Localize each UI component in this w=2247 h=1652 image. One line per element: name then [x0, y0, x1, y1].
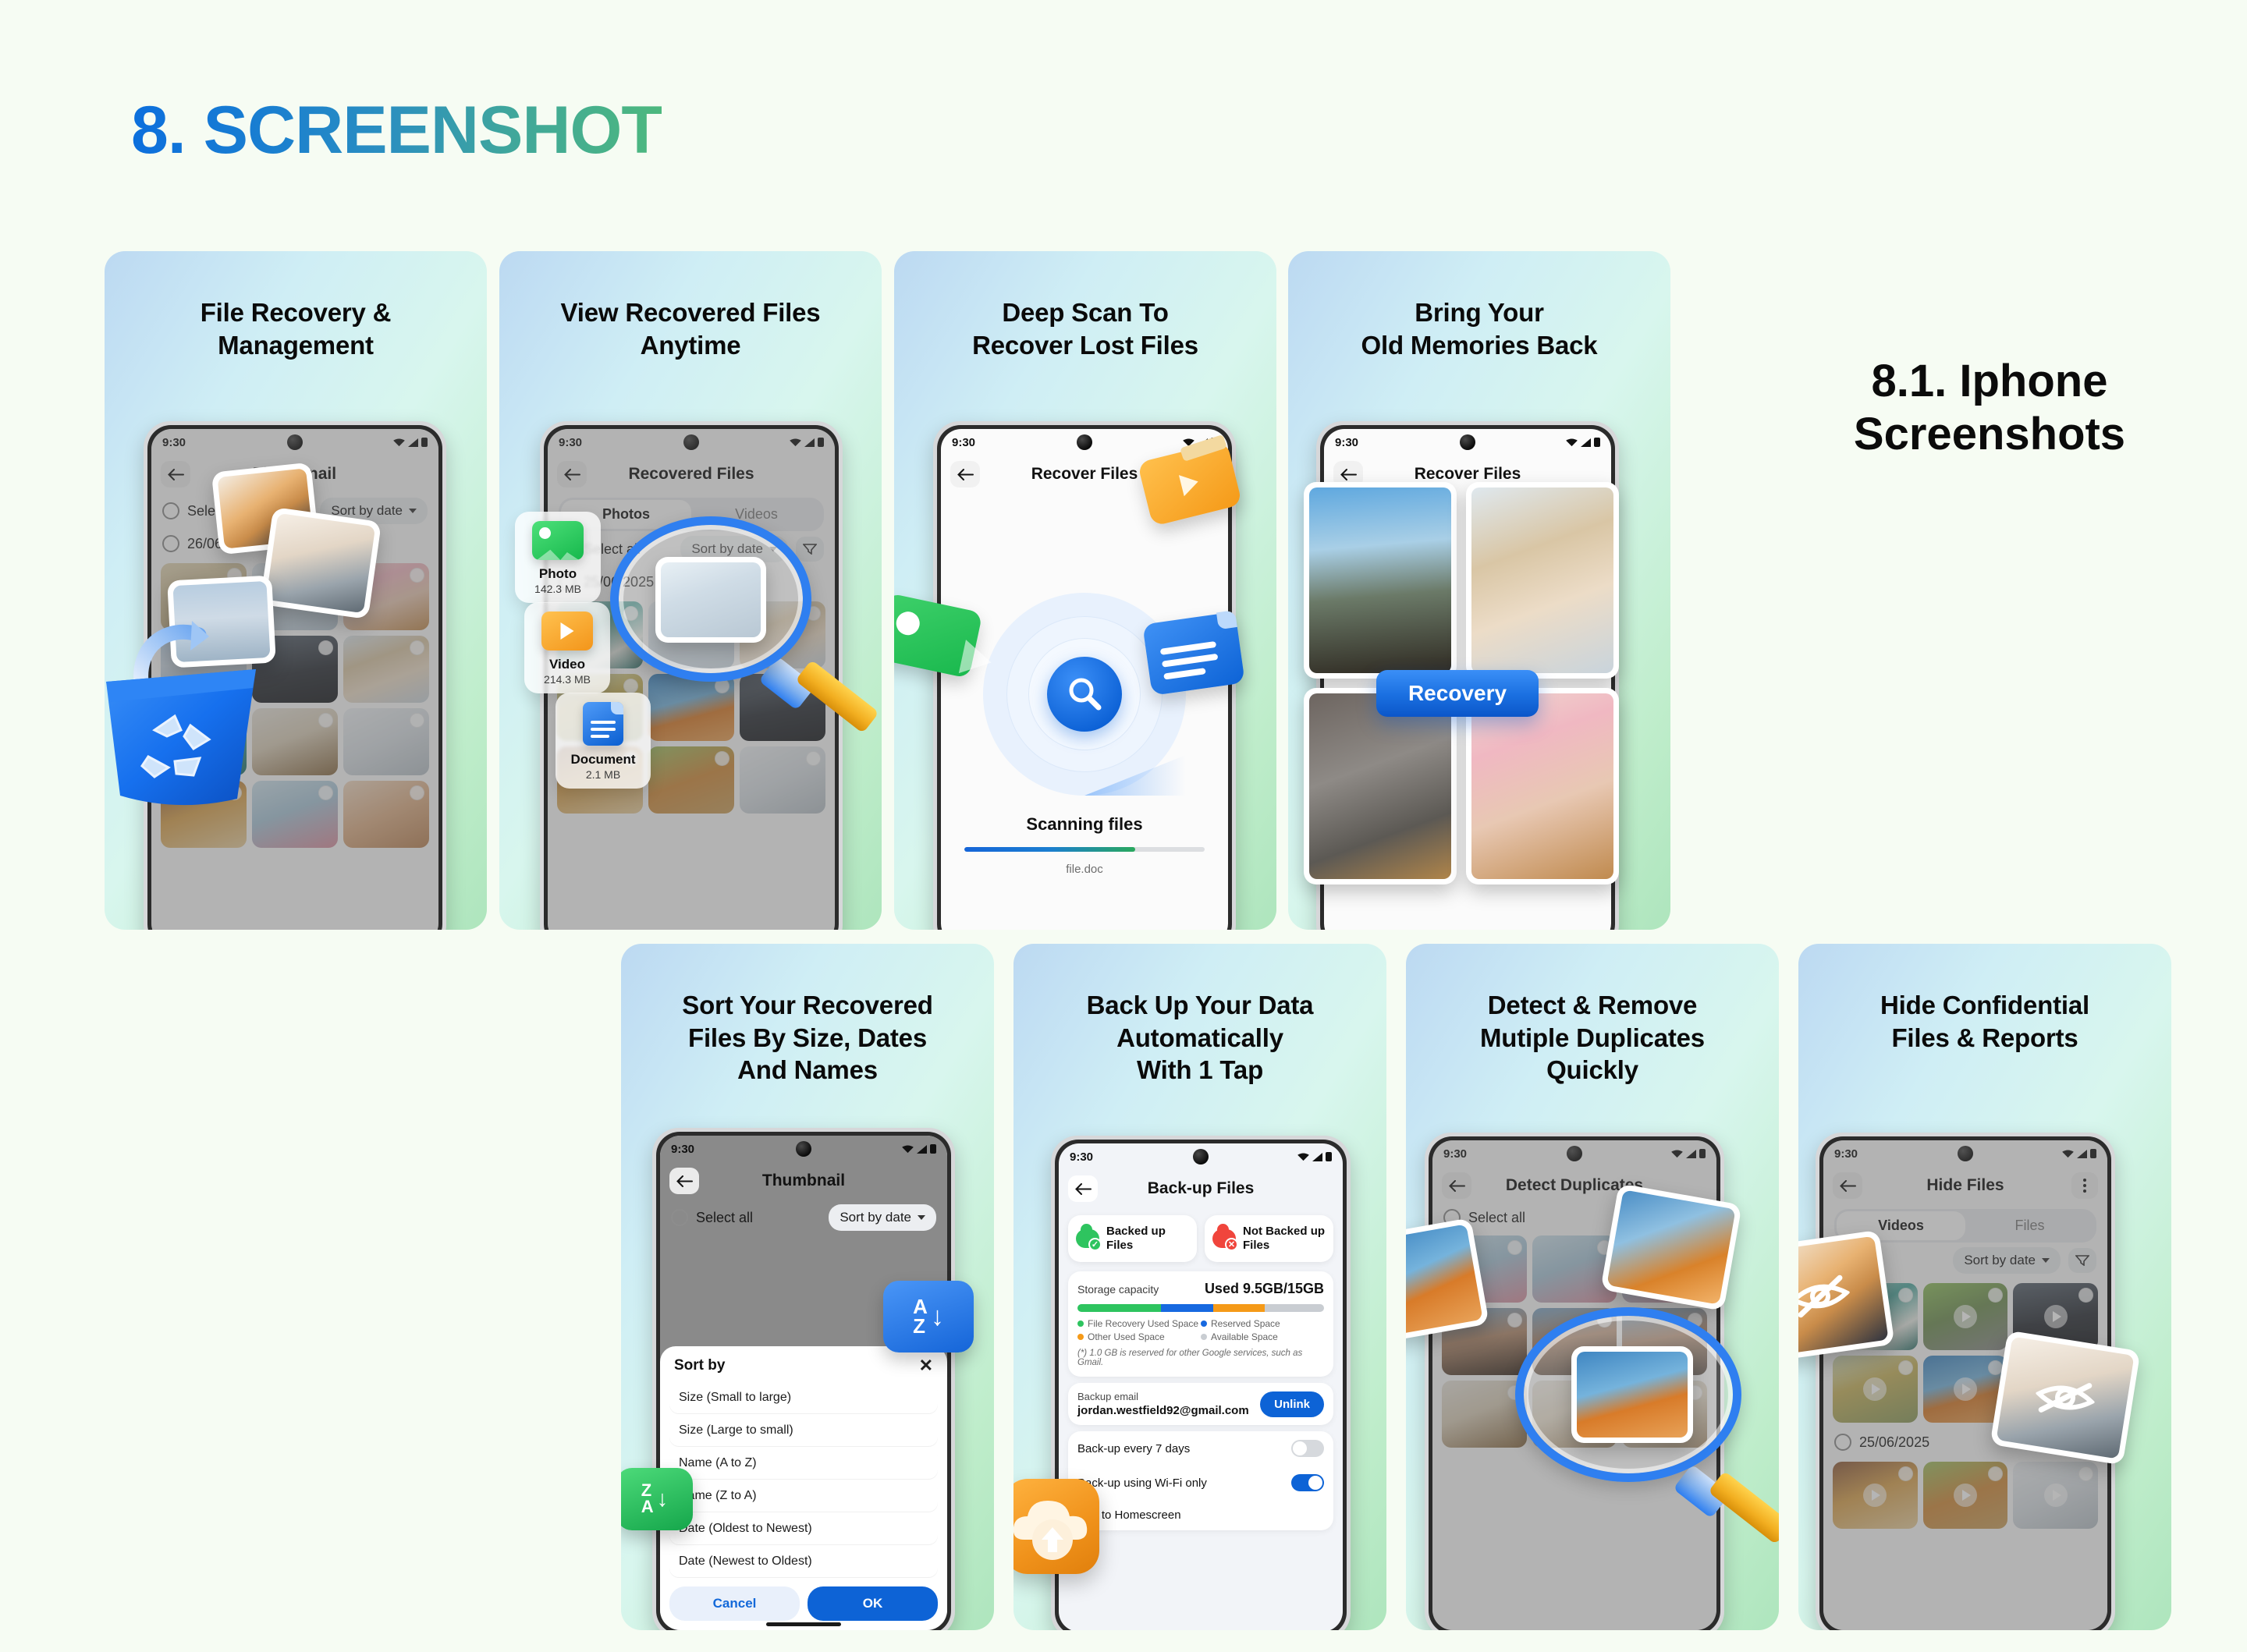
- tab-files[interactable]: Files: [1965, 1211, 2094, 1240]
- scan-progress-bar: [964, 847, 1205, 852]
- file-type-card-video: Video 214.3 MB: [524, 602, 610, 693]
- file-type-card-photo: Photo 142.3 MB: [515, 512, 601, 603]
- app-bar: Thumbnail: [660, 1162, 947, 1200]
- status-bar: 9:30: [1432, 1140, 1716, 1167]
- camera-punchhole-icon: [287, 434, 303, 450]
- filter-icon: [2075, 1255, 2089, 1266]
- selection-toolbar: Select all Sort by date: [660, 1200, 947, 1235]
- screenshot-card-sort-files: Sort Your Recovered Files By Size, Dates…: [621, 944, 994, 1630]
- back-button[interactable]: [669, 1168, 699, 1194]
- battery-icon: [1594, 438, 1600, 447]
- card-title: Sort Your Recovered Files By Size, Dates…: [621, 989, 994, 1087]
- file-type-size: 214.3 MB: [531, 673, 604, 686]
- status-bar: 9:30: [1823, 1140, 2107, 1167]
- back-button[interactable]: [161, 461, 190, 487]
- chevron-down-icon: [409, 509, 417, 513]
- cancel-button[interactable]: Cancel: [669, 1586, 800, 1621]
- app-bar-title: Back-up Files: [1059, 1179, 1343, 1198]
- legend-item: Reserved Space: [1201, 1318, 1324, 1329]
- signal-icon: [408, 438, 418, 447]
- cloud-upload-icon: [1013, 1479, 1099, 1574]
- status-time: 9:30: [952, 436, 975, 449]
- status-bar: 9:30: [1324, 429, 1611, 456]
- backup-email-value: jordan.westfield92@gmail.com: [1077, 1404, 1249, 1417]
- dialog-header: Sort by ✕: [669, 1357, 938, 1382]
- chevron-down-icon: [2042, 1258, 2050, 1263]
- recovery-button[interactable]: Recovery: [1376, 670, 1539, 717]
- side-heading-line2: Screenshots: [1787, 408, 2192, 461]
- more-vertical-icon[interactable]: [2071, 1172, 2098, 1199]
- sort-z-a-icon: Z A ↓: [621, 1468, 693, 1530]
- search-icon: [1064, 674, 1105, 714]
- ok-button[interactable]: OK: [808, 1586, 938, 1621]
- not-backed-up-files-label: Not Backed up Files: [1243, 1225, 1326, 1253]
- home-indicator: [766, 1622, 841, 1626]
- recycle-bin-icon: [105, 658, 262, 807]
- phone-screen: 9:30 Back-up Files: [1059, 1143, 1343, 1630]
- screenshot-card-detect-duplicates: Detect & Remove Mutiple Duplicates Quick…: [1406, 944, 1779, 1630]
- app-bar-title: Recover Files: [1324, 465, 1611, 484]
- camera-punchhole-icon: [1958, 1146, 1973, 1161]
- screenshot-card-backup: Back Up Your Data Automatically With 1 T…: [1013, 944, 1386, 1630]
- status-bar: 9:30: [660, 1136, 947, 1162]
- arrow-left-icon: [1840, 1180, 1856, 1192]
- close-icon[interactable]: ✕: [919, 1357, 933, 1374]
- magnified-duplicate-photo: [1571, 1346, 1693, 1443]
- thumbnail-item[interactable]: [343, 636, 429, 703]
- status-time: 9:30: [162, 436, 186, 449]
- status-time: 9:30: [671, 1143, 694, 1156]
- toggle-backup-wifi[interactable]: [1291, 1474, 1324, 1491]
- storage-legend: File Recovery Used Space Reserved Space …: [1077, 1318, 1324, 1345]
- card-title: Deep Scan To Recover Lost Files: [894, 296, 1276, 361]
- photo-icon: [532, 521, 584, 560]
- sort-by-dialog: Sort by ✕ Size (Small to large) Size (La…: [660, 1346, 947, 1630]
- back-button[interactable]: [1442, 1172, 1471, 1199]
- app-bar-title: Detect Duplicates: [1432, 1176, 1716, 1195]
- side-heading-line1: 8.1. Iphone: [1787, 355, 2192, 408]
- card-title: File Recovery & Management: [105, 296, 487, 361]
- unlink-button[interactable]: Unlink: [1260, 1391, 1324, 1417]
- date-group-label: 25/06/2025: [1859, 1434, 1929, 1451]
- thumbnail-item[interactable]: [343, 708, 429, 775]
- setting-row-7days[interactable]: Back-up every 7 days: [1068, 1431, 1333, 1466]
- file-type-name: Photo: [521, 566, 595, 582]
- thumbnail-item[interactable]: [1923, 1283, 2008, 1350]
- camera-punchhole-icon: [1193, 1149, 1209, 1165]
- backed-up-files-label: Backed up Files: [1106, 1225, 1189, 1253]
- storage-segment-file-recovery: [1077, 1304, 1161, 1312]
- dialog-title: Sort by: [674, 1357, 725, 1374]
- battery-icon: [2090, 1149, 2096, 1158]
- not-backed-up-files-card[interactable]: ✕ Not Backed up Files: [1205, 1215, 1333, 1262]
- back-button[interactable]: [950, 461, 980, 487]
- memory-photo-grandmother: [1466, 688, 1619, 884]
- setting-label: Back-up every 7 days: [1077, 1442, 1190, 1455]
- hidden-photo-dog: [1798, 1230, 1894, 1363]
- thumbnail-item[interactable]: [252, 708, 338, 775]
- sort-option[interactable]: Size (Small to large): [669, 1382, 938, 1413]
- status-time: 9:30: [1834, 1147, 1858, 1161]
- camera-punchhole-icon: [683, 434, 699, 450]
- battery-icon: [818, 438, 824, 447]
- select-all-checkbox[interactable]: [162, 502, 179, 519]
- hidden-photo-family: [1990, 1330, 2140, 1465]
- screenshot-card-hide-files: Hide Confidential Files & Reports 9:30: [1798, 944, 2171, 1630]
- memory-photo-mother-child: [1466, 482, 1619, 679]
- battery-icon: [421, 438, 428, 447]
- sort-option[interactable]: Date (Newest to Oldest): [669, 1546, 938, 1577]
- legend-item: Available Space: [1201, 1331, 1324, 1342]
- sort-by-date-dropdown[interactable]: Sort by date: [1953, 1247, 2061, 1274]
- storage-used-value: Used 9.5GB/15GB: [1205, 1281, 1324, 1297]
- thumbnail-item[interactable]: [252, 781, 338, 848]
- toggle-backup-7days[interactable]: [1291, 1440, 1324, 1457]
- camera-punchhole-icon: [1077, 434, 1092, 450]
- arrow-left-icon: [168, 469, 184, 480]
- file-type-size: 2.1 MB: [562, 768, 644, 781]
- thumbnail-item[interactable]: [1923, 1462, 2008, 1529]
- app-bar: Recovered Files: [548, 456, 835, 493]
- memory-photo-cat: [1304, 688, 1457, 884]
- wifi-icon: [790, 438, 801, 447]
- thumbnail-item[interactable]: [1442, 1381, 1527, 1448]
- storage-note: (*) 1.0 GB is reserved for other Google …: [1077, 1349, 1324, 1367]
- file-type-name: Document: [562, 752, 644, 768]
- sort-option[interactable]: Name (Z to A): [669, 1480, 938, 1512]
- magnifying-glass-icon: [610, 516, 868, 750]
- sort-option[interactable]: Date (Oldest to Newest): [669, 1513, 938, 1544]
- battery-icon: [1699, 1149, 1706, 1158]
- setting-row-homescreen[interactable]: Add to Homescreen: [1068, 1500, 1333, 1530]
- signal-icon: [917, 1145, 927, 1154]
- app-bar: Back-up Files: [1059, 1170, 1343, 1207]
- filter-button[interactable]: [2068, 1248, 2096, 1273]
- date-group-checkbox[interactable]: [1834, 1434, 1851, 1451]
- sort-option[interactable]: Size (Large to small): [669, 1415, 938, 1446]
- battery-icon: [1326, 1152, 1332, 1161]
- status-bar: 9:30: [1059, 1143, 1343, 1170]
- legend-item: File Recovery Used Space: [1077, 1318, 1201, 1329]
- arrow-left-icon: [676, 1175, 693, 1187]
- signal-icon: [1312, 1153, 1322, 1161]
- backup-settings-panel: Back-up every 7 days Back-up using Wi-Fi…: [1068, 1431, 1333, 1530]
- wifi-icon: [902, 1145, 914, 1154]
- side-heading: 8.1. Iphone Screenshots: [1787, 355, 2192, 462]
- thumbnail-item[interactable]: [648, 746, 734, 814]
- status-time: 9:30: [559, 436, 582, 449]
- arrow-left-icon: [957, 469, 974, 480]
- storage-capacity-label: Storage capacity: [1077, 1283, 1159, 1296]
- arrow-left-icon: [1340, 469, 1357, 480]
- signal-icon: [804, 438, 815, 447]
- select-all-label: Select all: [1468, 1210, 1525, 1226]
- camera-punchhole-icon: [1567, 1146, 1582, 1161]
- thumbnail-item[interactable]: [1833, 1356, 1918, 1423]
- storage-bar: [1077, 1304, 1324, 1312]
- thumbnail-item[interactable]: [740, 746, 825, 814]
- storage-capacity-panel: Storage capacity Used 9.5GB/15GB File Re…: [1068, 1271, 1333, 1377]
- screenshot-card-file-recovery: File Recovery & Management 9:30: [105, 251, 487, 930]
- storage-segment-reserved: [1161, 1304, 1212, 1312]
- chevron-down-icon: [918, 1215, 925, 1220]
- wifi-icon: [1671, 1150, 1683, 1158]
- floating-photo-family: [260, 507, 382, 619]
- battery-icon: [930, 1144, 936, 1154]
- camera-punchhole-icon: [796, 1141, 811, 1157]
- signal-icon: [1686, 1150, 1696, 1158]
- scan-search-button[interactable]: [1047, 657, 1122, 732]
- scan-current-file: file.doc: [941, 863, 1228, 876]
- card-title: Detect & Remove Mutiple Duplicates Quick…: [1406, 989, 1779, 1087]
- scan-status-label: Scanning files: [941, 814, 1228, 835]
- legend-item: Other Used Space: [1077, 1331, 1201, 1342]
- storage-segment-available: [1265, 1304, 1324, 1312]
- magnified-photo: [655, 557, 766, 643]
- select-all-checkbox[interactable]: [671, 1209, 688, 1226]
- phone-mockup: 9:30 Thumbnail: [652, 1128, 955, 1630]
- thumbnail-item[interactable]: [1833, 1462, 1918, 1529]
- select-all-label: Select all: [696, 1210, 753, 1226]
- status-time: 9:30: [1443, 1147, 1467, 1161]
- video-icon: [541, 612, 593, 651]
- memory-photo-hiker: [1304, 482, 1457, 679]
- file-type-name: Video: [531, 657, 604, 672]
- app-bar-title: Hide Files: [1823, 1176, 2107, 1195]
- document-file-icon: [1142, 612, 1245, 696]
- screenshot-card-view-recovered: View Recovered Files Anytime 9:30: [499, 251, 882, 930]
- app-bar-title: Thumbnail: [660, 1172, 947, 1190]
- back-button[interactable]: [557, 461, 587, 487]
- sort-by-date-dropdown[interactable]: Sort by date: [829, 1204, 936, 1231]
- arrow-left-icon: [1075, 1183, 1092, 1195]
- duplicate-photo-right: [1600, 1183, 1742, 1311]
- eye-off-icon: [2032, 1373, 2097, 1422]
- magnifying-glass-icon: [1515, 1307, 1774, 1565]
- card-title: Back Up Your Data Automatically With 1 T…: [1013, 989, 1386, 1087]
- backup-email-panel: Backup email jordan.westfield92@gmail.co…: [1068, 1383, 1333, 1425]
- sort-option[interactable]: Name (A to Z): [669, 1448, 938, 1479]
- sort-by-date-label: Sort by date: [1964, 1253, 2036, 1268]
- signal-icon: [2077, 1150, 2087, 1158]
- file-type-size: 142.3 MB: [521, 583, 595, 595]
- app-bar-title: Recovered Files: [548, 465, 835, 484]
- arrow-left-icon: [1449, 1180, 1465, 1192]
- signal-icon: [1581, 438, 1591, 447]
- status-time: 9:30: [1070, 1150, 1093, 1164]
- sort-a-z-icon: A Z ↓: [883, 1281, 974, 1352]
- cloud-check-icon: ✓: [1076, 1229, 1099, 1248]
- backed-up-files-card[interactable]: ✓ Backed up Files: [1068, 1215, 1197, 1262]
- date-group-checkbox[interactable]: [162, 535, 179, 552]
- wifi-icon: [1297, 1153, 1309, 1161]
- sort-by-date-label: Sort by date: [840, 1210, 911, 1225]
- camera-punchhole-icon: [1460, 434, 1475, 450]
- back-button[interactable]: [1068, 1175, 1098, 1202]
- card-title: View Recovered Files Anytime: [499, 296, 882, 361]
- card-title: Hide Confidential Files & Reports: [1798, 989, 2171, 1054]
- wifi-icon: [2062, 1150, 2074, 1158]
- cloud-cross-icon: ✕: [1212, 1229, 1236, 1248]
- back-button[interactable]: [1833, 1172, 1862, 1199]
- thumbnail-item[interactable]: [2013, 1462, 2098, 1529]
- arrow-left-icon: [564, 469, 580, 480]
- poster-page: 8. SCREENSHOT 8.1. Iphone Screenshots Fi…: [0, 0, 2247, 1652]
- screenshot-card-deep-scan: Deep Scan To Recover Lost Files 9:30: [894, 251, 1276, 930]
- status-bar: 9:30: [548, 429, 835, 456]
- screenshot-card-old-memories: Bring Your Old Memories Back 9:30: [1288, 251, 1670, 930]
- phone-screen: 9:30 Thumbnail: [660, 1136, 947, 1630]
- app-bar: Hide Files: [1823, 1167, 2107, 1204]
- wifi-icon: [393, 438, 405, 447]
- status-bar: 9:30: [151, 429, 438, 456]
- video-grid-bottom: [1823, 1457, 2107, 1533]
- thumbnail-item[interactable]: [343, 781, 429, 848]
- setting-row-wifi[interactable]: Back-up using Wi-Fi only: [1068, 1466, 1333, 1500]
- backup-email-label: Backup email: [1077, 1391, 1249, 1402]
- page-title: 8. SCREENSHOT: [131, 92, 662, 169]
- backup-summary-row: ✓ Backed up Files ✕ Not Backed up Files: [1059, 1207, 1343, 1265]
- wifi-icon: [1566, 438, 1578, 447]
- storage-segment-other: [1213, 1304, 1265, 1312]
- status-time: 9:30: [1335, 436, 1358, 449]
- card-title: Bring Your Old Memories Back: [1288, 296, 1670, 361]
- eye-off-icon: [1798, 1272, 1852, 1321]
